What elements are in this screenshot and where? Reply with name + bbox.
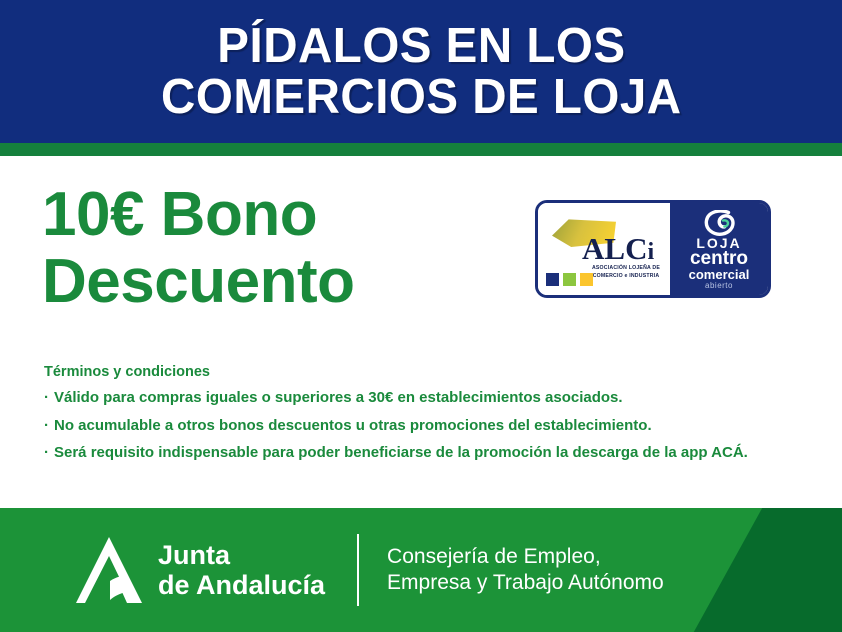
header-title-line-1: PÍDALOS EN LOS: [217, 21, 625, 72]
poster-footer: Junta de Andalucía Consejería de Empleo,…: [0, 508, 842, 632]
loja-comercial-label: comercial: [689, 269, 750, 281]
poster-body: 10€ Bono Descuento ALCi ASOCIACIÓN LOJEÑ…: [0, 156, 842, 508]
loja-centro-comercial-panel: LOJA centro comercial abierto: [670, 203, 768, 295]
alci-logo-panel: ALCi ASOCIACIÓN LOJEÑA DE COMERCIO e IND…: [538, 203, 670, 295]
bullet-icon: ·: [44, 390, 49, 407]
bullet-icon: ·: [44, 445, 49, 462]
loja-centro-label: centro: [690, 250, 748, 268]
offer-headline: 10€ Bono Descuento: [42, 182, 512, 316]
footer-content: Junta de Andalucía Consejería de Empleo,…: [0, 508, 842, 632]
offer-line-2: Descuento: [42, 249, 512, 316]
swatch-yellow: [580, 273, 593, 286]
swatch-green: [563, 273, 576, 286]
terms-item: ·Válido para compras iguales o superiore…: [44, 390, 804, 407]
consejeria-line-2: Empresa y Trabajo Autónomo: [387, 570, 664, 596]
terms-title: Términos y condiciones: [44, 364, 804, 380]
consejeria-line-1: Consejería de Empleo,: [387, 544, 664, 570]
junta-de-andalucia-wordmark: Junta de Andalucía: [158, 540, 325, 600]
poster-header: PÍDALOS EN LOS COMERCIOS DE LOJA: [0, 0, 842, 143]
de-andalucia-label: de Andalucía: [158, 570, 325, 600]
terms-item-text: No acumulable a otros bonos descuentos u…: [54, 417, 652, 434]
terms-item-text: Será requisito indispensable para poder …: [54, 444, 748, 461]
offer-line-1: 10€ Bono: [42, 182, 512, 249]
consejeria-block: Consejería de Empleo, Empresa y Trabajo …: [387, 544, 664, 597]
terms-item: ·Será requisito indispensable para poder…: [44, 445, 804, 462]
footer-divider: [357, 534, 359, 606]
junta-label: Junta: [158, 540, 325, 570]
header-title-line-2: COMERCIOS DE LOJA: [161, 72, 682, 123]
alci-wordmark-i: i: [647, 239, 654, 265]
terms-item: ·No acumulable a otros bonos descuentos …: [44, 418, 804, 435]
terms-section: Términos y condiciones ·Válido para comp…: [44, 364, 804, 473]
alci-loja-logo: ALCi ASOCIACIÓN LOJEÑA DE COMERCIO e IND…: [535, 200, 771, 298]
alci-wordmark: ALCi: [582, 233, 654, 264]
loja-abierto-label: abierto: [705, 282, 733, 290]
promo-poster: PÍDALOS EN LOS COMERCIOS DE LOJA 10€ Bon…: [0, 0, 842, 632]
alci-color-swatches: [546, 273, 593, 286]
bullet-icon: ·: [44, 418, 49, 435]
alci-wordmark-main: ALC: [582, 231, 647, 266]
loja-swirl-icon: [702, 210, 736, 236]
terms-item-text: Válido para compras iguales o superiores…: [54, 389, 623, 406]
header-green-stripe: [0, 143, 842, 156]
alci-subtitle: ASOCIACIÓN LOJEÑA DE COMERCIO e INDUSTRI…: [584, 265, 668, 280]
swatch-blue: [546, 273, 559, 286]
junta-de-andalucia-arch-icon: [74, 534, 144, 606]
